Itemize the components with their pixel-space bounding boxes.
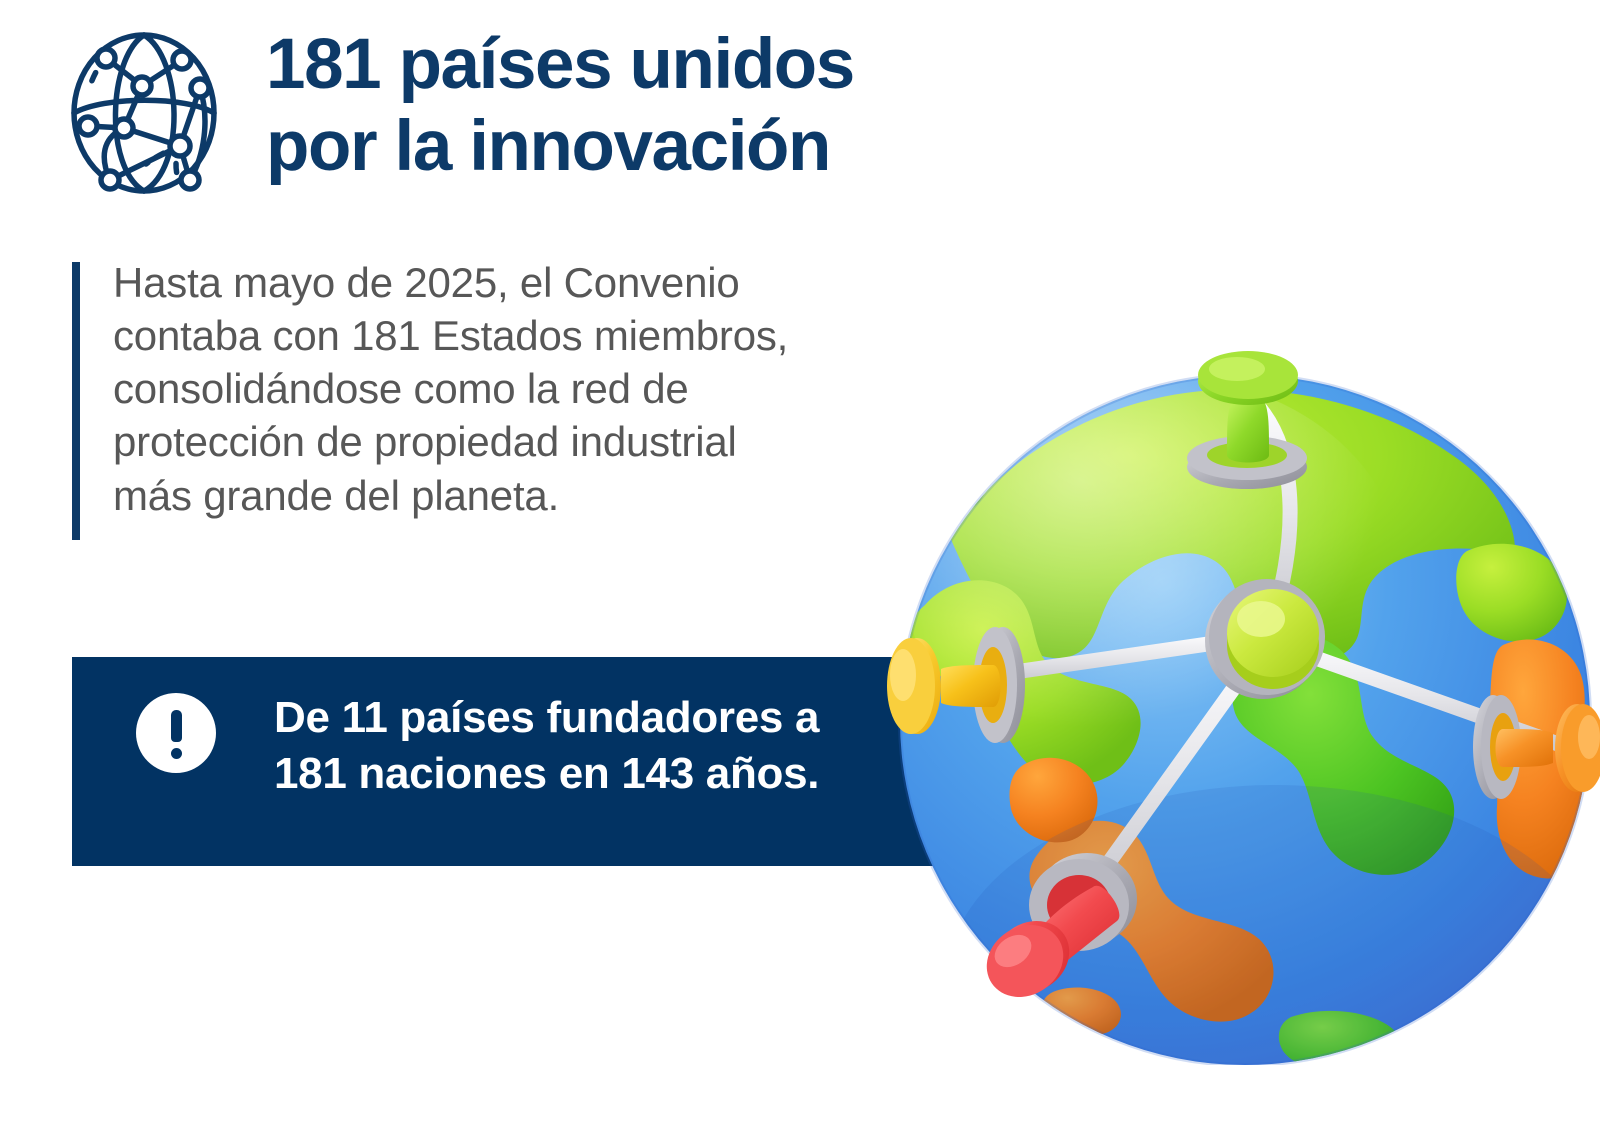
network-globe-icon <box>64 28 224 198</box>
infographic-canvas: 181 países unidos por la innovación Hast… <box>0 0 1600 1148</box>
accent-rule <box>72 262 80 540</box>
intro-paragraph: Hasta mayo de 2025, el Convenio contaba … <box>113 256 893 522</box>
header: 181 países unidos por la innovación <box>0 0 1000 220</box>
exclamation-circle-icon <box>136 693 216 773</box>
intro-paragraph-block: Hasta mayo de 2025, el Convenio contaba … <box>72 262 892 544</box>
callout-text: De 11 países fundadores a 181 naciones e… <box>274 690 894 803</box>
exclamation-dot <box>171 748 182 759</box>
exclamation-stem <box>171 710 182 742</box>
globe-with-pushpins-illustration <box>855 345 1600 1065</box>
page-title: 181 países unidos por la innovación <box>266 24 966 189</box>
